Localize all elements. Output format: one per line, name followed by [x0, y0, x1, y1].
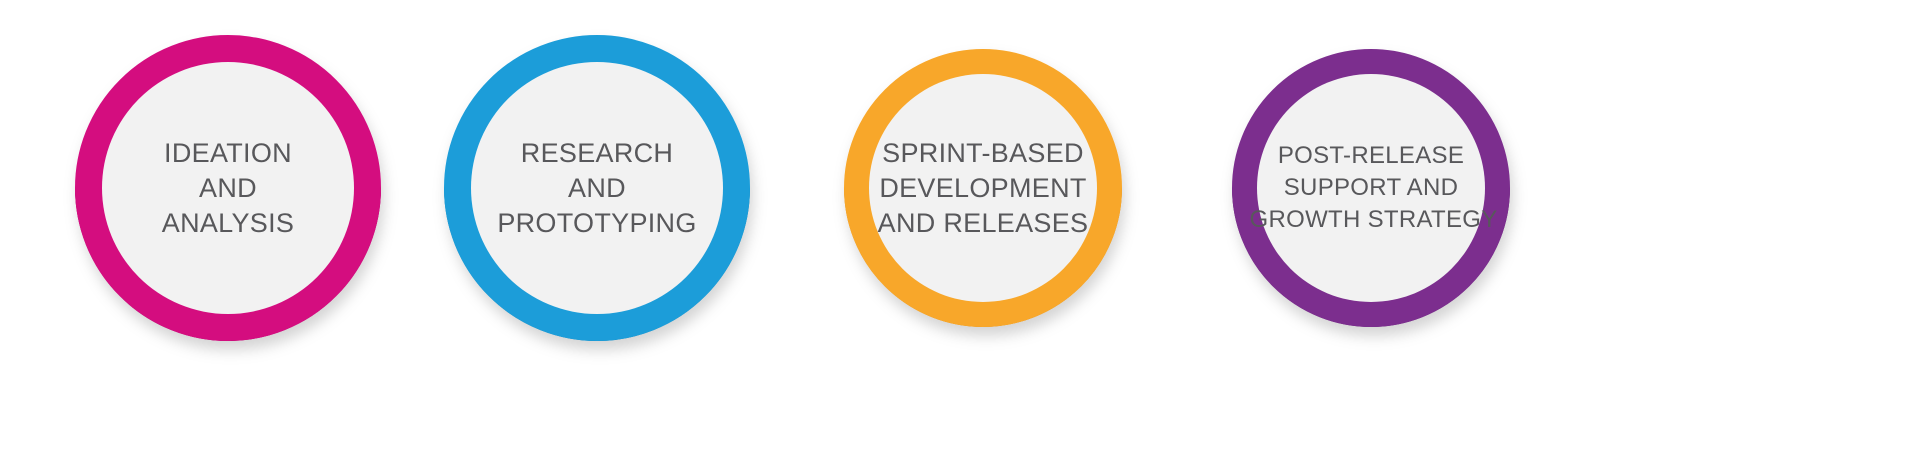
step-ideation-and-analysis[interactable] [89, 49, 367, 327]
step-sprint-based-development-and-releases-disc [869, 74, 1097, 302]
step-sprint-based-development-and-releases[interactable] [857, 62, 1109, 314]
step-research-and-prototyping-disc [471, 62, 723, 314]
process-flow-svg [0, 0, 1920, 450]
step-research-and-prototyping[interactable] [458, 49, 736, 327]
step-ideation-and-analysis-disc [102, 62, 354, 314]
step-post-release-support-and-growth-strategy-disc [1257, 74, 1485, 302]
infographic-canvas: IDEATION AND ANALYSISRESEARCH AND PROTOT… [0, 0, 1920, 450]
node-layer [89, 49, 1497, 327]
step-post-release-support-and-growth-strategy[interactable] [1245, 62, 1497, 314]
